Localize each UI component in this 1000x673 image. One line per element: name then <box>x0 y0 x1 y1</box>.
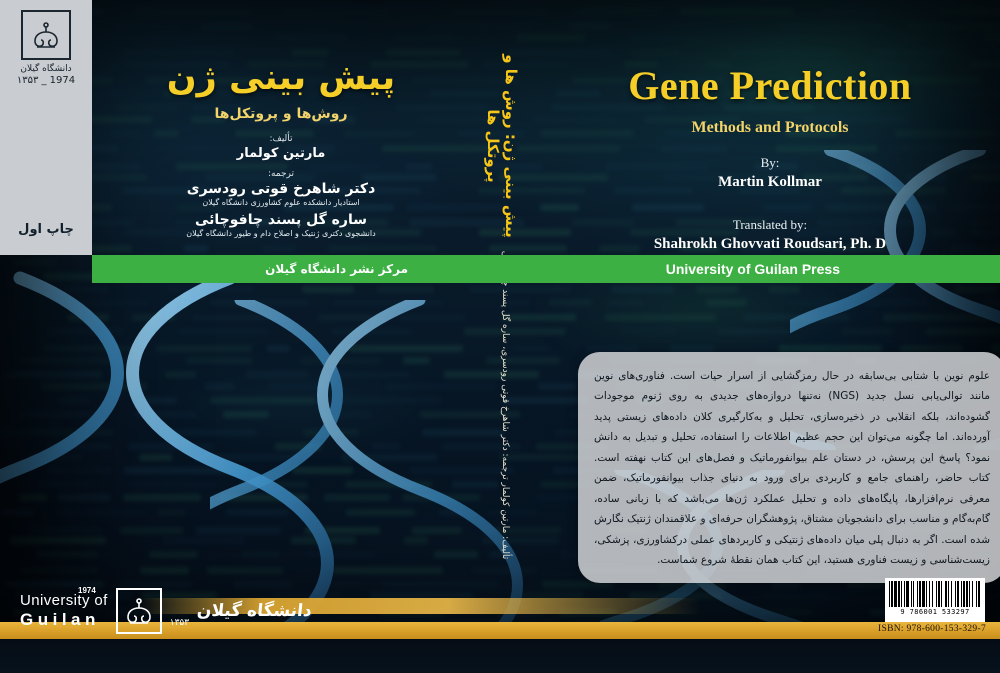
publisher-name-persian: مرکز نشر دانشگاه گیلان <box>265 262 408 276</box>
seal-emblem-icon <box>21 10 71 60</box>
publisher-name-english: University of Guilan Press <box>666 261 840 277</box>
book-cover: دانشگاه گیلان ۱۳۵۳ _ 1974 چاپ اول پیش بی… <box>0 0 1000 673</box>
edition-label: چاپ اول <box>0 222 92 237</box>
front-cover-text-block: Gene Prediction Methods and Protocols By… <box>540 0 1000 255</box>
seal-year: ۱۳۵۳ _ 1974 <box>0 75 92 86</box>
university-logo-year-fa: ۱۳۵۳ <box>170 618 189 628</box>
isbn-barcode: 9 786001 533297 <box>885 578 985 622</box>
persian-translator-1-affiliation: استادیار دانشکده علوم کشاورزی دانشگاه گی… <box>92 198 470 207</box>
english-translated-label: Translated by: <box>540 217 1000 233</box>
spine-authors: تألیف: مارتین کولمار ترجمه: دکتر شاهرخ ق… <box>500 240 510 570</box>
isbn-text: ISBN: 978-600-153-329-7 <box>878 624 986 634</box>
back-cover-text-block: پیش بینی ژن روش‌ها و پروتکل‌ها تألیف: ما… <box>92 0 470 255</box>
persian-translator-2: ساره گل پسند چافوچائی <box>92 212 470 228</box>
persian-author: مارتین کولمار <box>92 146 470 161</box>
barcode-bars <box>889 581 981 607</box>
book-spine: پیش بینی ژن: روش ها و پروتکل ها تألیف: م… <box>470 0 538 673</box>
university-logo-year-en: 1974 <box>78 587 96 596</box>
english-author: Martin Kollmar <box>540 174 1000 191</box>
university-logo: 1974 University of Guilan ۱۳۵۳ دانشگاه گ… <box>20 588 312 634</box>
university-logo-emblem-icon <box>116 588 162 634</box>
persian-translator-label: ترجمه: <box>92 169 470 179</box>
university-logo-line2: Guilan <box>20 610 108 629</box>
university-logo-persian: دانشگاه گیلان <box>196 601 313 621</box>
english-by-label: By: <box>540 155 1000 171</box>
bottom-dark-strip <box>0 639 1000 673</box>
english-translator-1: Shahrokh Ghovvati Roudsari, Ph. D <box>540 236 1000 253</box>
publisher-band: مرکز نشر دانشگاه گیلان University of Gui… <box>92 255 1000 283</box>
persian-subtitle: روش‌ها و پروتکل‌ها <box>92 106 470 122</box>
persian-title: پیش بینی ژن <box>92 58 470 98</box>
barcode-digits: 9 786001 533297 <box>889 608 981 616</box>
university-logo-english: 1974 University of Guilan <box>20 593 108 629</box>
back-cover-abstract: علوم نوین با شتابی بی‌سابقه در حال رمزگش… <box>578 352 1000 583</box>
university-seal: دانشگاه گیلان ۱۳۵۳ _ 1974 <box>0 10 92 86</box>
persian-translator-2-affiliation: دانشجوی دکتری ژنتیک و اصلاح دام و طیور د… <box>92 229 470 238</box>
persian-translator-1: دکتر شاهرخ قوتی رودسری <box>92 181 470 197</box>
english-subtitle: Methods and Protocols <box>540 119 1000 137</box>
spine-title: پیش بینی ژن: روش ها و پروتکل ها <box>484 26 520 266</box>
persian-author-label: تألیف: <box>92 134 470 144</box>
seal-university-name: دانشگاه گیلان <box>0 64 92 74</box>
english-title: Gene Prediction <box>540 62 1000 109</box>
